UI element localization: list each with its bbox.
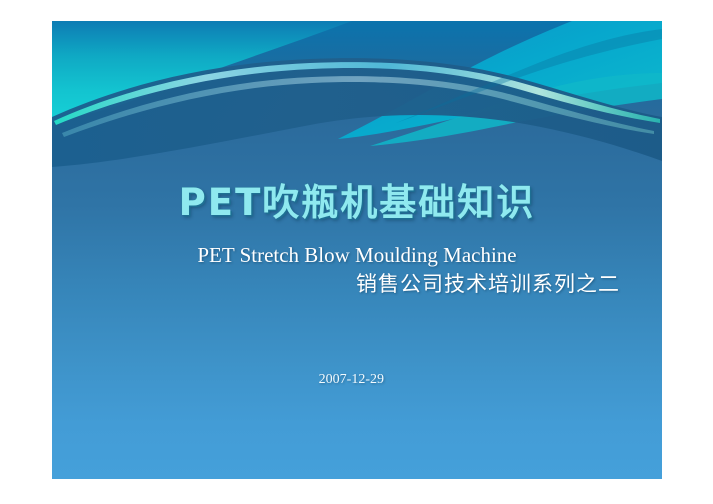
slide-text-block: PET吹瓶机基础知识 PET Stretch Blow Moulding Mac…: [52, 21, 662, 479]
slide-subtitle-english: PET Stretch Blow Moulding Machine: [52, 242, 662, 269]
slide-subtitle-chinese: 销售公司技术培训系列之二: [52, 270, 662, 298]
slide-date: 2007-12-29: [52, 372, 662, 388]
slide-title: PET吹瓶机基础知识: [52, 181, 662, 225]
title-slide: PET吹瓶机基础知识 PET Stretch Blow Moulding Mac…: [52, 21, 662, 479]
presentation-canvas: PET吹瓶机基础知识 PET Stretch Blow Moulding Mac…: [0, 0, 713, 504]
